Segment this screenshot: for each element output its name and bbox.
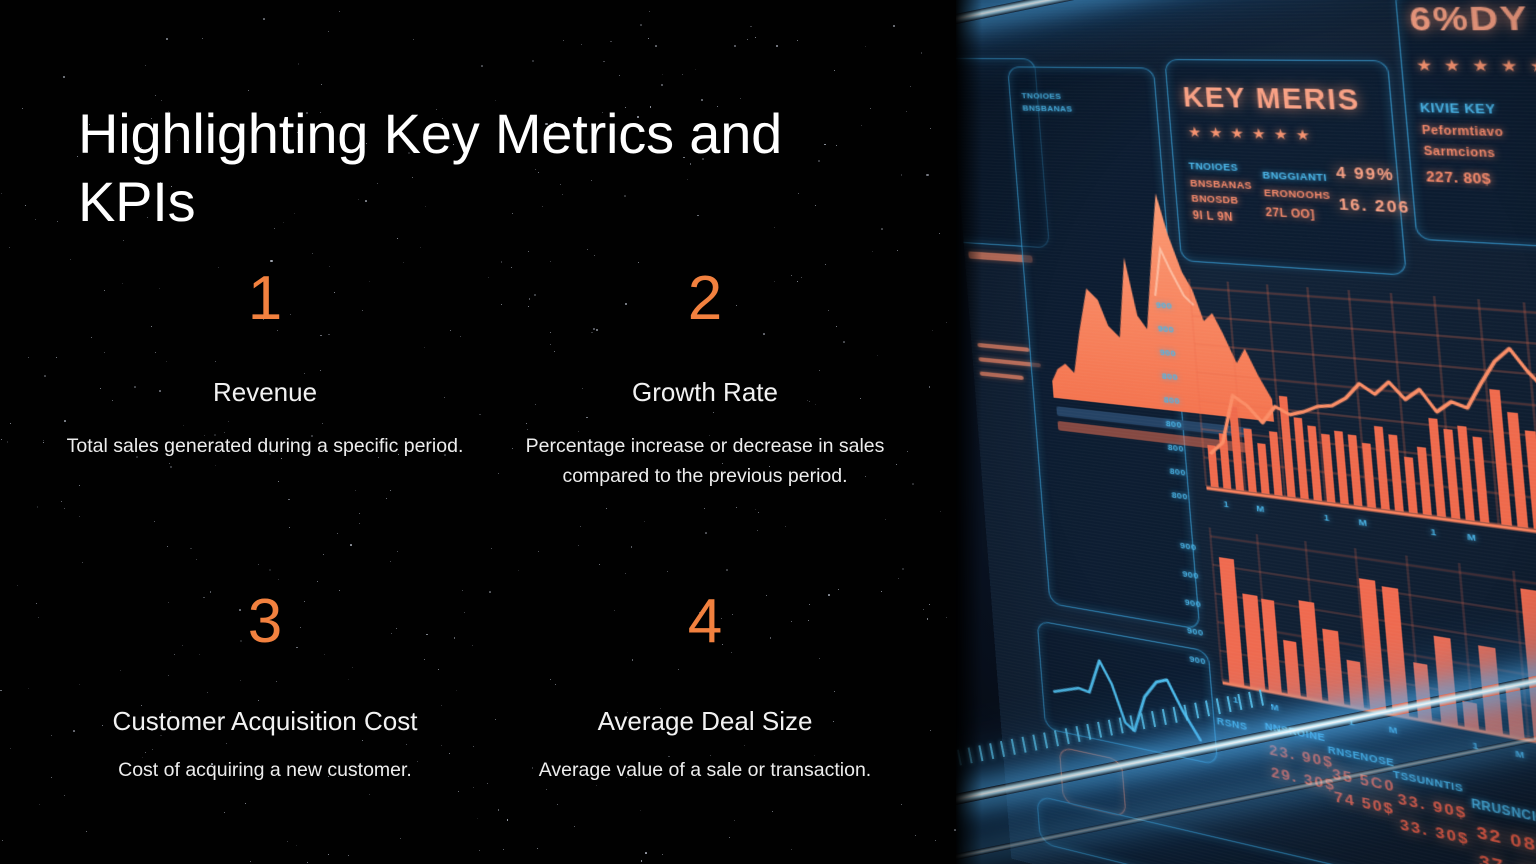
metric-number-3: 3 bbox=[64, 591, 466, 653]
tick-mark bbox=[1129, 715, 1134, 731]
dash-label-km-4: 9I L 9N bbox=[1192, 210, 1233, 224]
dash-label-km-3: BNOSDB bbox=[1191, 193, 1239, 206]
tick-mark bbox=[968, 747, 973, 763]
tick-mark bbox=[1194, 702, 1199, 718]
tick-mark bbox=[1065, 728, 1070, 744]
star-icon: ★ bbox=[1251, 125, 1274, 143]
star-icon: ★ bbox=[1529, 56, 1536, 76]
dash-label-left-1: TNOIOES bbox=[1021, 91, 1061, 101]
metric-number-1: 1 bbox=[64, 268, 466, 330]
star-icon: ★ bbox=[1230, 125, 1253, 143]
metric-description-3: Cost of acquiring a new customer. bbox=[64, 755, 466, 785]
metrics-grid: 1 Revenue Total sales generated during a… bbox=[50, 268, 920, 786]
tick-mark bbox=[1097, 722, 1102, 738]
tick-mark bbox=[989, 743, 994, 759]
star-icon: ★ bbox=[1415, 56, 1444, 76]
metric-description-4: Average value of a sale or transaction. bbox=[504, 755, 906, 785]
dash-label-tr-4: 227. 80$ bbox=[1425, 169, 1492, 188]
tick-mark bbox=[1162, 709, 1167, 725]
dash-label-tr-1: KIVIE KEY bbox=[1419, 102, 1496, 117]
tick-mark bbox=[1216, 698, 1221, 714]
star-icon: ★ bbox=[1471, 56, 1501, 76]
star-icon: ★ bbox=[1295, 126, 1319, 144]
tick-mark bbox=[1140, 713, 1145, 729]
metric-number-4: 4 bbox=[504, 591, 906, 653]
star-icon: ★ bbox=[1443, 56, 1473, 76]
dash-label-km-1: TNOIOES bbox=[1188, 160, 1238, 173]
metric-description-1: Total sales generated during a specific … bbox=[64, 431, 466, 461]
metric-title-4: Average Deal Size bbox=[504, 705, 906, 738]
dash-value-km-2: 16. 206 bbox=[1338, 195, 1411, 217]
metric-number-2: 2 bbox=[504, 268, 906, 330]
tick-mark bbox=[957, 749, 962, 765]
dash-label-left-2: BNSBANAS bbox=[1022, 103, 1073, 113]
star-icon: ★ bbox=[1187, 124, 1209, 142]
tick-mark bbox=[1248, 692, 1253, 708]
tick-mark bbox=[978, 745, 983, 761]
dash-label-tr-2: Peformtiavo bbox=[1422, 125, 1505, 140]
star-icon: ★ bbox=[1273, 126, 1297, 144]
tick-mark bbox=[1183, 705, 1188, 721]
dash-heading-top-right: 6%DY + 43 bbox=[1408, 0, 1536, 40]
tick-mark bbox=[1011, 739, 1016, 755]
tick-mark bbox=[1086, 724, 1091, 740]
tick-mark bbox=[1151, 711, 1156, 727]
tick-mark bbox=[1119, 717, 1124, 733]
dashboard-photo: TNOIOES BNSBANAS bbox=[956, 0, 1536, 864]
dash-mini-row-a bbox=[977, 343, 1029, 352]
metric-title-2: Growth Rate bbox=[504, 376, 906, 409]
dash-label-tr-3: Sarmcions bbox=[1423, 146, 1496, 161]
dash-label-km-7: 27L OO] bbox=[1265, 207, 1315, 222]
content-panel: Highlighting Key Metrics and KPIs 1 Reve… bbox=[0, 0, 956, 864]
tick-mark bbox=[1237, 694, 1242, 710]
tick-mark bbox=[1075, 726, 1080, 742]
dash-value-km-1: 4 99% bbox=[1335, 163, 1395, 183]
tick-mark bbox=[1032, 735, 1037, 751]
tick-mark bbox=[1227, 696, 1232, 712]
page-title: Highlighting Key Metrics and KPIs bbox=[78, 100, 838, 237]
tick-mark bbox=[1000, 741, 1005, 757]
metric-description-2: Percentage increase or decrease in sales… bbox=[504, 431, 906, 491]
metric-card-3: 3 Customer Acquisition Cost Cost of acqu… bbox=[50, 591, 480, 786]
tick-mark bbox=[1043, 732, 1048, 748]
slide-root: Highlighting Key Metrics and KPIs 1 Reve… bbox=[0, 0, 1536, 864]
metric-card-4: 4 Average Deal Size Average value of a s… bbox=[490, 591, 920, 786]
tick-mark bbox=[1022, 737, 1027, 753]
star-icon: ★ bbox=[1500, 56, 1531, 76]
dash-star-row-right: ★★★★★★ bbox=[1415, 56, 1536, 77]
tick-mark bbox=[1173, 707, 1178, 723]
tick-mark bbox=[1259, 690, 1264, 706]
tick-mark bbox=[1205, 700, 1210, 716]
tick-mark bbox=[1054, 730, 1059, 746]
star-icon: ★ bbox=[1208, 124, 1231, 142]
metric-card-1: 1 Revenue Total sales generated during a… bbox=[50, 268, 480, 491]
dash-mini-row-c bbox=[980, 371, 1024, 380]
dash-heading-key-metrics: KEY MERIS bbox=[1182, 83, 1362, 118]
metric-title-3: Customer Acquisition Cost bbox=[64, 705, 466, 738]
tick-mark bbox=[1108, 720, 1113, 736]
metric-card-2: 2 Growth Rate Percentage increase or dec… bbox=[490, 268, 920, 491]
metric-title-1: Revenue bbox=[64, 376, 466, 409]
